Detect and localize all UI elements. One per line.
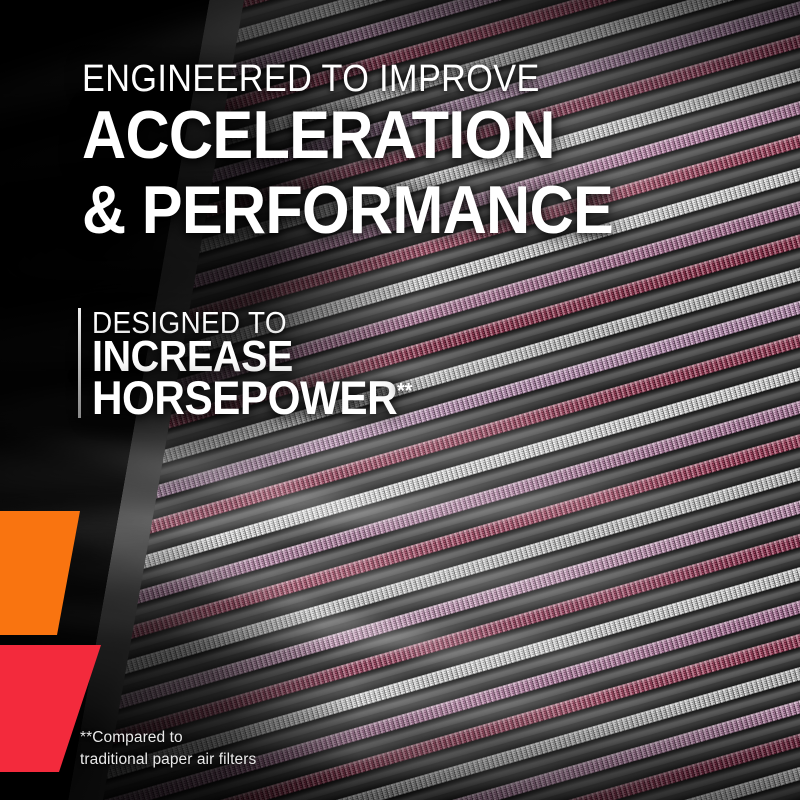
- subhead-line-2-text: HORSEPOWER: [92, 371, 397, 424]
- footnote-text: **Compared to traditional paper air filt…: [80, 727, 256, 771]
- subhead-vertical-rule: [78, 308, 81, 418]
- headline-line-2: & PERFORMANCE: [82, 179, 613, 243]
- headline-line-1: ACCELERATION: [82, 104, 555, 168]
- subhead-line-2: HORSEPOWER**: [92, 376, 412, 420]
- headline-eyebrow: ENGINEERED TO IMPROVE: [82, 60, 540, 98]
- banner-canvas: ENGINEERED TO IMPROVE ACCELERATION & PER…: [0, 0, 800, 800]
- orange-chevron-shape: [0, 511, 80, 635]
- footnote-marker: **: [397, 377, 412, 402]
